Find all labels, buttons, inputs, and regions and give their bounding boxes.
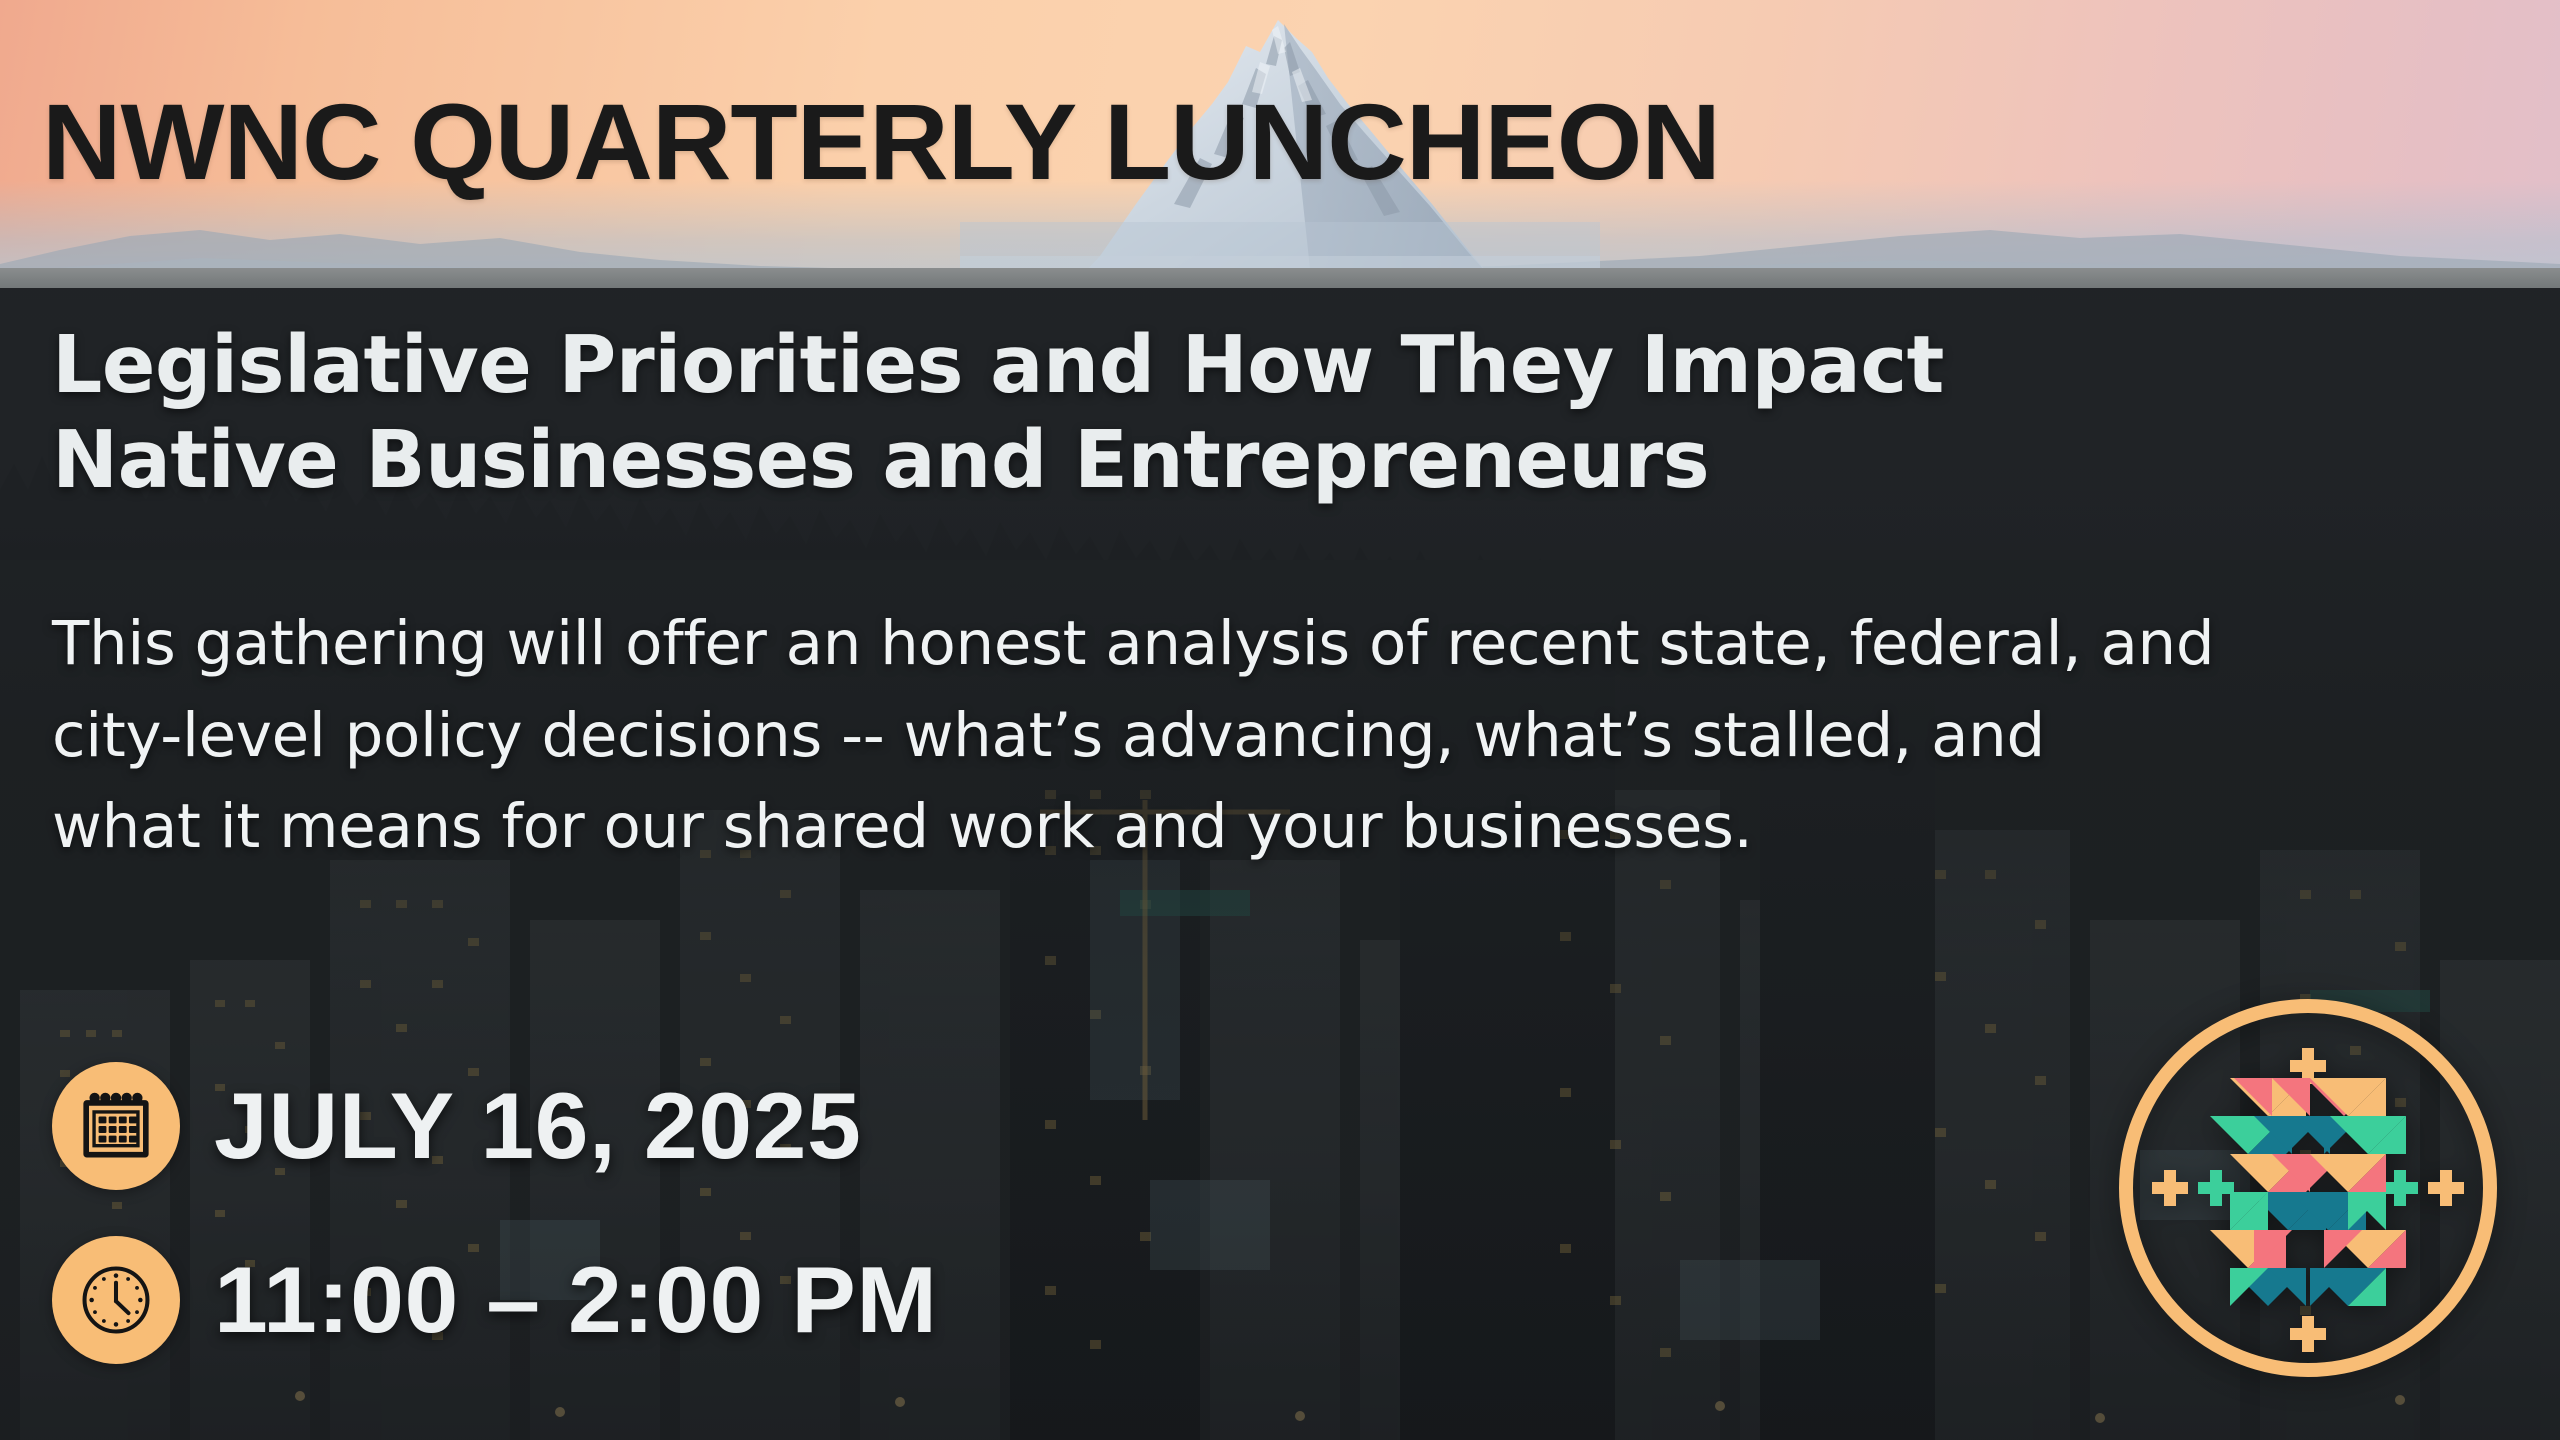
logo-triangle-mosaic bbox=[2210, 1078, 2406, 1306]
event-date-row: JULY 16, 2025 bbox=[52, 1052, 917, 1200]
page-title: NWNC QUARTERLY LUNCHEON bbox=[42, 88, 1720, 196]
event-description-line-2: city-level policy decisions -- what’s ad… bbox=[52, 690, 2472, 782]
event-time-value: 11:00 – 2:00 PM bbox=[214, 1253, 938, 1347]
calendar-icon bbox=[80, 1090, 152, 1162]
event-description-line-3: what it means for our shared work and yo… bbox=[52, 781, 2472, 873]
event-subtitle-line-2: Native Businesses and Entrepreneurs bbox=[52, 413, 2522, 508]
event-description: This gathering will offer an honest anal… bbox=[52, 598, 2472, 873]
calendar-icon-badge bbox=[52, 1062, 180, 1190]
header-divider bbox=[0, 268, 2560, 288]
event-subtitle-line-1: Legislative Priorities and How They Impa… bbox=[52, 318, 2522, 413]
event-subtitle: Legislative Priorities and How They Impa… bbox=[52, 318, 2522, 508]
event-date-value: JULY 16, 2025 bbox=[214, 1079, 861, 1173]
clock-icon-badge bbox=[52, 1236, 180, 1364]
clock-icon bbox=[78, 1262, 154, 1338]
nwnc-geometric-logo-icon bbox=[2108, 988, 2508, 1388]
event-details: JULY 16, 2025 bbox=[52, 1052, 917, 1400]
event-description-line-1: This gathering will offer an honest anal… bbox=[52, 598, 2472, 690]
event-time-row: 11:00 – 2:00 PM bbox=[52, 1226, 917, 1374]
organization-logo bbox=[2108, 988, 2508, 1388]
event-flyer: NWNC QUARTERLY LUNCHEON Legislative Prio… bbox=[0, 0, 2560, 1440]
